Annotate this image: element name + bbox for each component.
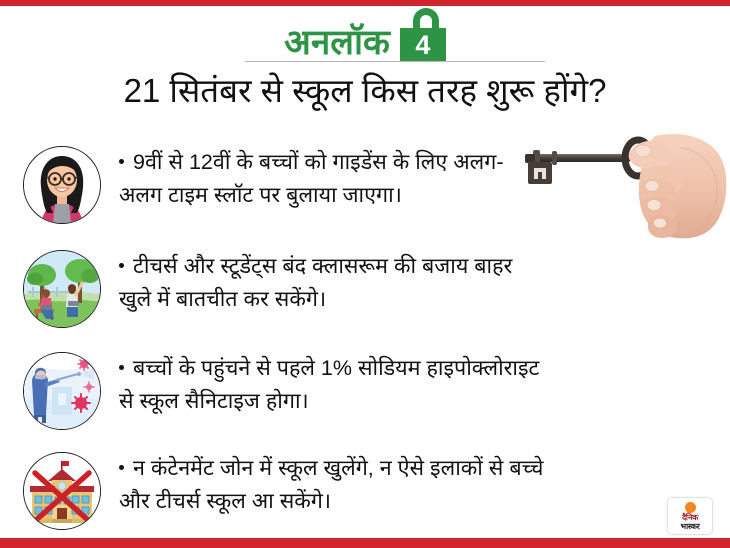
open-padlock-icon: 4: [400, 8, 446, 62]
list-item-text: बच्चों के पहुंचने से पहले 1% सोडियम हाइप…: [119, 352, 549, 419]
padlock-body: 4: [400, 28, 446, 62]
bullet-label: न कंटेनमेंट जोन में स्कूल खुलेंगे, न ऐसे…: [119, 456, 543, 513]
bullet-dot: [119, 465, 124, 470]
list-item-text: न कंटेनमेंट जोन में स्कूल खुलेंगे, न ऐसे…: [119, 452, 569, 519]
bullet-label: 9वीं से 12वीं के बच्चों को गाइडेंस के लि…: [119, 150, 504, 207]
unlock-number: 4: [415, 32, 430, 59]
list-item: 9वीं से 12वीं के बच्चों को गाइडेंस के लि…: [0, 146, 730, 224]
bullet-label: बच्चों के पहुंचने से पहले 1% सोडियम हाइप…: [119, 356, 539, 413]
logo-line-2: भास्कर: [680, 523, 699, 531]
dainik-bhaskar-logo: दैनिक भास्कर: [668, 498, 712, 534]
list-item: न कंटेनमेंट जोन में स्कूल खुलेंगे, न ऐसे…: [0, 452, 730, 530]
bullet-dot: [119, 365, 124, 370]
header-divider: [245, 61, 545, 62]
list-item-text: टीचर्स और स्टूडेंट्स बंद क्लासरूम की बजा…: [119, 250, 549, 317]
sanitization-spray-worker-icon: [23, 352, 101, 430]
list-item: बच्चों के पहुंचने से पहले 1% सोडियम हाइप…: [0, 352, 730, 430]
infographic-poster: अनलॉक 4 21 सितंबर से स्कूल किस तरह शुरू …: [0, 0, 730, 548]
bottom-red-bar: [0, 538, 730, 548]
list-item-text: 9वीं से 12वीं के बच्चों को गाइडेंस के लि…: [119, 146, 519, 213]
bullet-dot: [119, 263, 124, 268]
padlock-shackle: [413, 8, 439, 30]
page-title: 21 सितंबर से स्कूल किस तरह शुरू होंगे?: [0, 70, 730, 111]
unlock-header: अनलॉक 4: [0, 8, 730, 62]
top-red-bar: [0, 0, 730, 6]
bullet-label: टीचर्स और स्टूडेंट्स बंद क्लासरूम की बजा…: [119, 254, 512, 311]
outdoor-park-students-icon: [23, 250, 101, 328]
bullet-dot: [119, 159, 124, 164]
list-item: टीचर्स और स्टूडेंट्स बंद क्लासरूम की बजा…: [0, 250, 730, 328]
student-girl-avatar-icon: [23, 146, 101, 224]
sun-icon: [685, 502, 696, 513]
unlock-label: अनलॉक: [284, 25, 390, 62]
school-building-crossed-out-icon: [23, 452, 101, 530]
